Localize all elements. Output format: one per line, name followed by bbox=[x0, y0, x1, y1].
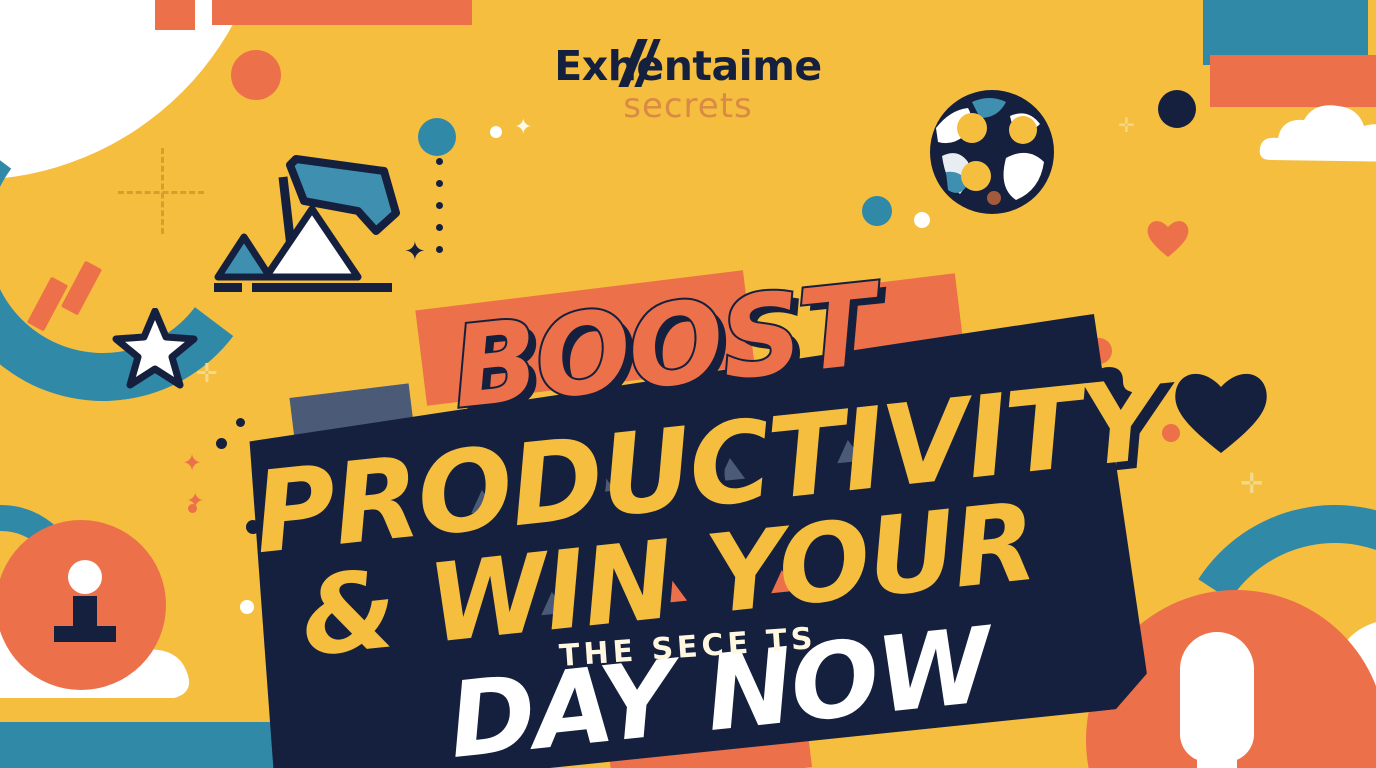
poster-canvas: ✦ ✦ ✛ ✦ ✦ ✦ ✦ ✛ ✛ ✦ ✦ ✛ ✦ BOOST PRODUCTI… bbox=[0, 0, 1376, 768]
top-orange-bar-wide bbox=[212, 0, 472, 25]
brand-name-text: Exhentaime bbox=[554, 42, 822, 90]
tagline: THE SECE TS bbox=[0, 630, 1376, 665]
brand-subtitle: secrets bbox=[0, 86, 1376, 126]
brand-name: Exhentaime bbox=[554, 42, 822, 90]
headline-block: BOOST PRODUCTIVITY & WIN YOUR DAY NOW bbox=[0, 140, 1376, 640]
top-orange-bar-small bbox=[155, 0, 195, 30]
white-dot-1 bbox=[490, 126, 502, 138]
brand-lockup: Exhentaime secrets bbox=[0, 42, 1376, 126]
